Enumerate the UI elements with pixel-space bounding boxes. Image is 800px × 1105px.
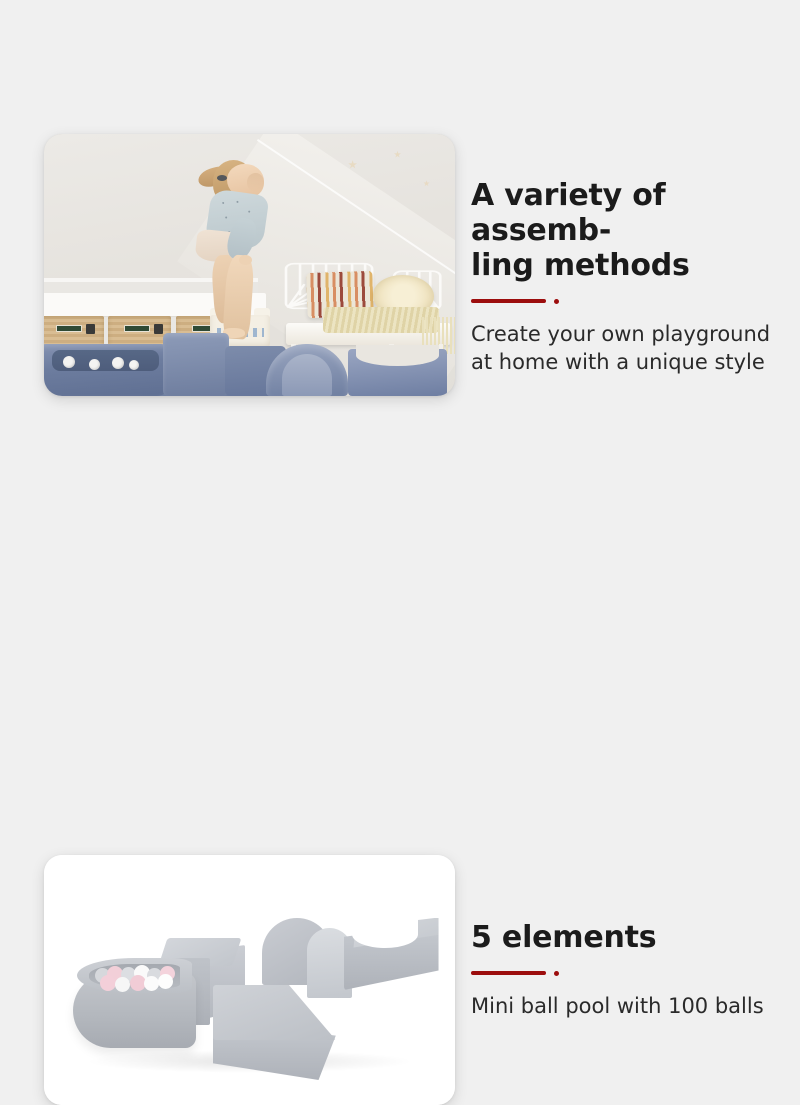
accent-dot bbox=[554, 299, 559, 304]
product-photo bbox=[44, 855, 455, 1105]
feature-heading: 5 elements bbox=[471, 920, 793, 955]
lifestyle-photo bbox=[44, 134, 455, 396]
child-face bbox=[247, 173, 263, 191]
basket-label bbox=[124, 325, 149, 332]
feature-text-five-elements: 5 elements Mini ball pool with 100 balls bbox=[471, 920, 793, 1021]
feature-body: Create your own playground at home with … bbox=[471, 321, 793, 377]
feature-block-five-elements: 5 elements Mini ball pool with 100 balls bbox=[0, 400, 800, 800]
foam-arch-face bbox=[282, 354, 331, 396]
child-hair-tie bbox=[217, 175, 228, 181]
foam-step-block-blue bbox=[163, 333, 229, 396]
accent-line bbox=[471, 971, 546, 975]
basket-tab bbox=[86, 324, 96, 333]
feature-text-assembling-methods: A variety of assemb- ling methods Create… bbox=[471, 178, 793, 377]
accent-divider bbox=[471, 970, 793, 976]
feature-body: Mini ball pool with 100 balls bbox=[471, 993, 793, 1021]
feature-block-assembling-methods: A variety of assemb- ling methods Create… bbox=[0, 0, 800, 400]
foam-ball-pool-interior bbox=[52, 350, 159, 371]
product-photo-card bbox=[44, 855, 455, 1105]
feature-heading: A variety of assemb- ling methods bbox=[471, 178, 793, 283]
accent-line bbox=[471, 299, 546, 303]
foam-rocker-curve-grey bbox=[352, 920, 418, 948]
accent-divider bbox=[471, 298, 793, 304]
foam-rocker-curve bbox=[356, 345, 438, 366]
accent-dot bbox=[554, 971, 559, 976]
lifestyle-photo-card bbox=[44, 134, 455, 396]
foam-ball-pool-interior-grey bbox=[89, 964, 179, 988]
basket-tab bbox=[154, 324, 164, 333]
basket-label bbox=[56, 325, 81, 332]
